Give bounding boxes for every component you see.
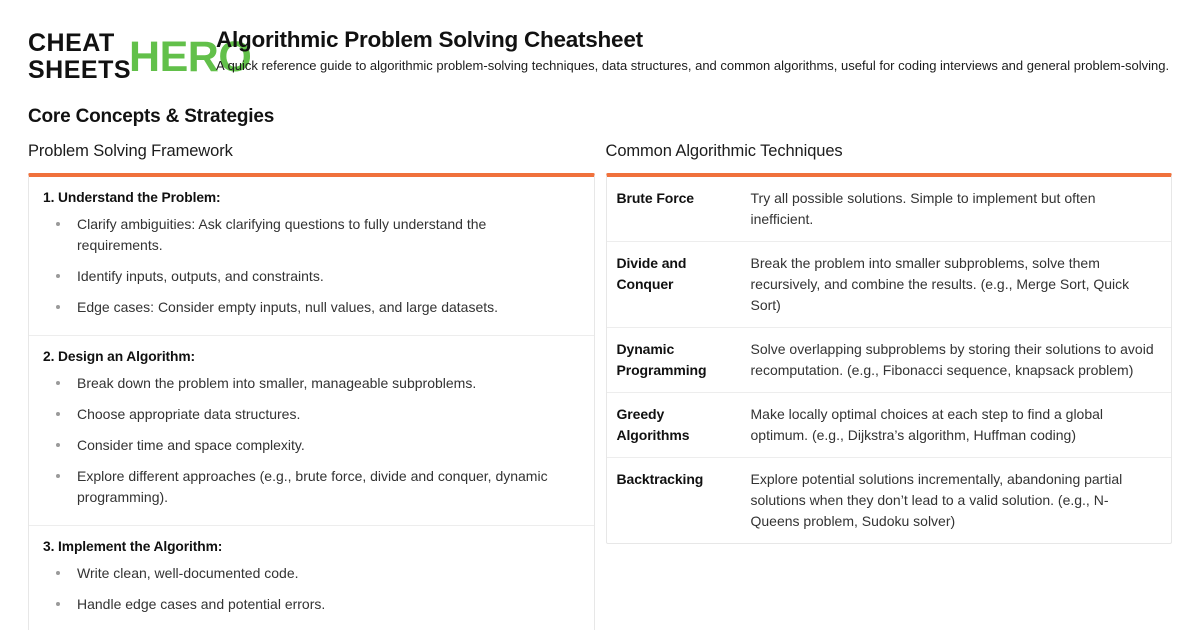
technique-name: Greedy Algorithms — [607, 393, 747, 458]
list-item: Follow coding style guidelines. — [43, 620, 580, 630]
list-item: Consider time and space complexity. — [43, 430, 580, 461]
framework-block: 2. Design an Algorithm: Break down the p… — [29, 336, 594, 526]
block-heading: 2. Design an Algorithm: — [43, 349, 580, 364]
table-row: Brute Force Try all possible solutions. … — [607, 177, 1172, 242]
technique-description: Explore potential solutions incrementall… — [747, 458, 1172, 544]
table-row: Backtracking Explore potential solutions… — [607, 458, 1172, 544]
page-header: CHEAT SHEETS HERO Algorithmic Problem So… — [28, 0, 1172, 84]
block-heading: 3. Implement the Algorithm: — [43, 539, 580, 554]
page-title: Algorithmic Problem Solving Cheatsheet — [216, 26, 1172, 53]
page-subtitle: A quick reference guide to algorithmic p… — [216, 57, 1172, 76]
bullet-list: Write clean, well-documented code. Handl… — [43, 558, 580, 630]
table-row: Dynamic Programming Solve overlapping su… — [607, 328, 1172, 393]
column-common-techniques: Common Algorithmic Techniques Brute Forc… — [606, 142, 1173, 544]
list-item: Explore different approaches (e.g., brut… — [43, 461, 580, 513]
technique-description: Make locally optimal choices at each ste… — [747, 393, 1172, 458]
list-item: Handle edge cases and potential errors. — [43, 589, 580, 620]
framework-block: 3. Implement the Algorithm: Write clean,… — [29, 526, 594, 630]
framework-card: 1. Understand the Problem: Clarify ambig… — [28, 173, 595, 630]
table-row: Greedy Algorithms Make locally optimal c… — [607, 393, 1172, 458]
block-heading: 1. Understand the Problem: — [43, 190, 580, 205]
list-item: Choose appropriate data structures. — [43, 399, 580, 430]
logo-word-sheets: SHEETS — [28, 57, 131, 84]
bullet-list: Break down the problem into smaller, man… — [43, 368, 580, 513]
techniques-table: Brute Force Try all possible solutions. … — [607, 177, 1172, 543]
column-title-left: Problem Solving Framework — [28, 142, 595, 161]
technique-name: Dynamic Programming — [607, 328, 747, 393]
list-item: Identify inputs, outputs, and constraint… — [43, 261, 580, 292]
list-item: Clarify ambiguities: Ask clarifying ques… — [43, 209, 580, 261]
framework-block: 1. Understand the Problem: Clarify ambig… — [29, 177, 594, 336]
bullet-list: Clarify ambiguities: Ask clarifying ques… — [43, 209, 580, 323]
list-item: Write clean, well-documented code. — [43, 558, 580, 589]
cheatsheethero-logo[interactable]: CHEAT SHEETS HERO — [28, 24, 200, 84]
logo-word-cheat: CHEAT — [28, 30, 131, 57]
content-columns: Problem Solving Framework 1. Understand … — [28, 142, 1172, 630]
header-text-group: Algorithmic Problem Solving Cheatsheet A… — [216, 24, 1172, 76]
table-row: Divide and Conquer Break the problem int… — [607, 242, 1172, 328]
technique-description: Break the problem into smaller subproble… — [747, 242, 1172, 328]
technique-name: Backtracking — [607, 458, 747, 544]
technique-description: Try all possible solutions. Simple to im… — [747, 177, 1172, 242]
technique-description: Solve overlapping subproblems by storing… — [747, 328, 1172, 393]
cheatsheet-page: CHEAT SHEETS HERO Algorithmic Problem So… — [0, 0, 1200, 630]
column-title-right: Common Algorithmic Techniques — [606, 142, 1173, 161]
column-problem-solving-framework: Problem Solving Framework 1. Understand … — [28, 142, 595, 630]
list-item: Edge cases: Consider empty inputs, null … — [43, 292, 580, 323]
logo-row: CHEAT SHEETS HERO — [28, 30, 200, 84]
technique-name: Divide and Conquer — [607, 242, 747, 328]
logo-wordmark-stack: CHEAT SHEETS — [28, 30, 131, 84]
techniques-table-card: Brute Force Try all possible solutions. … — [606, 173, 1173, 544]
list-item: Break down the problem into smaller, man… — [43, 368, 580, 399]
section-title-core-concepts: Core Concepts & Strategies — [28, 106, 1172, 128]
technique-name: Brute Force — [607, 177, 747, 242]
